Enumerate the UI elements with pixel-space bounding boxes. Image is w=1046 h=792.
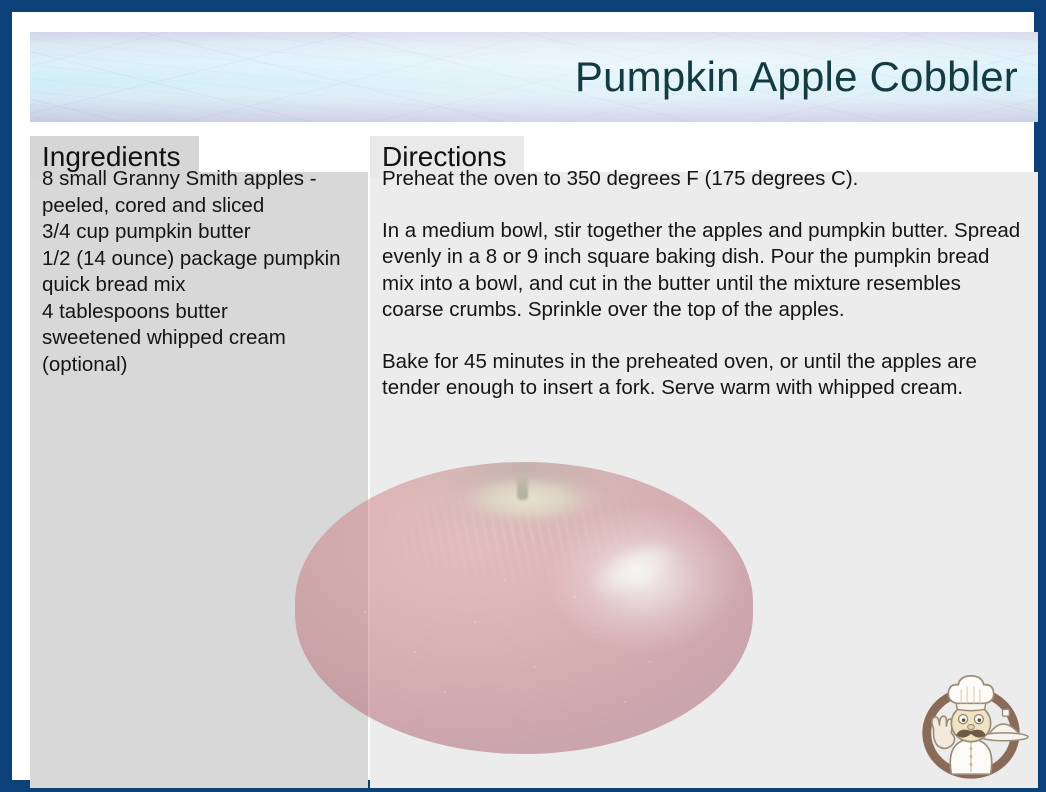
list-item: quick bread mix bbox=[42, 272, 358, 299]
directions-step: Preheat the oven to 350 degrees F (175 d… bbox=[382, 166, 1024, 193]
jacket-button bbox=[969, 763, 972, 766]
title-banner: Pumpkin Apple Cobbler bbox=[30, 32, 1038, 122]
directions-step: In a medium bowl, stir together the appl… bbox=[382, 218, 1024, 324]
ingredients-panel: Ingredients 8 small Granny Smith apples … bbox=[30, 136, 368, 788]
list-item: sweetened whipped cream bbox=[42, 325, 358, 352]
chef-mascot-logo bbox=[912, 668, 1030, 786]
page-title: Pumpkin Apple Cobbler bbox=[575, 56, 1018, 98]
list-item: peeled, cored and sliced bbox=[42, 193, 358, 220]
ingredients-list: 8 small Granny Smith apples - peeled, co… bbox=[42, 166, 358, 378]
chef-hat bbox=[948, 676, 993, 704]
nose bbox=[968, 724, 975, 729]
list-item: 1/2 (14 ounce) package pumpkin bbox=[42, 246, 358, 273]
list-item: 4 tablespoons butter bbox=[42, 299, 358, 326]
jacket-button bbox=[969, 747, 972, 750]
list-item: 3/4 cup pumpkin butter bbox=[42, 219, 358, 246]
slide: Pumpkin Apple Cobbler Ingredients 8 smal… bbox=[0, 0, 1046, 792]
directions-step: Bake for 45 minutes in the preheated ove… bbox=[382, 349, 1024, 402]
content-panels: Ingredients 8 small Granny Smith apples … bbox=[30, 136, 1038, 788]
list-item: 8 small Granny Smith apples - bbox=[42, 166, 358, 193]
slide-inner-frame: Pumpkin Apple Cobbler Ingredients 8 smal… bbox=[12, 12, 1034, 780]
directions-text: Preheat the oven to 350 degrees F (175 d… bbox=[382, 166, 1024, 402]
list-item: (optional) bbox=[42, 352, 358, 379]
jacket-button bbox=[969, 755, 972, 758]
chef-hat-band bbox=[956, 703, 986, 710]
